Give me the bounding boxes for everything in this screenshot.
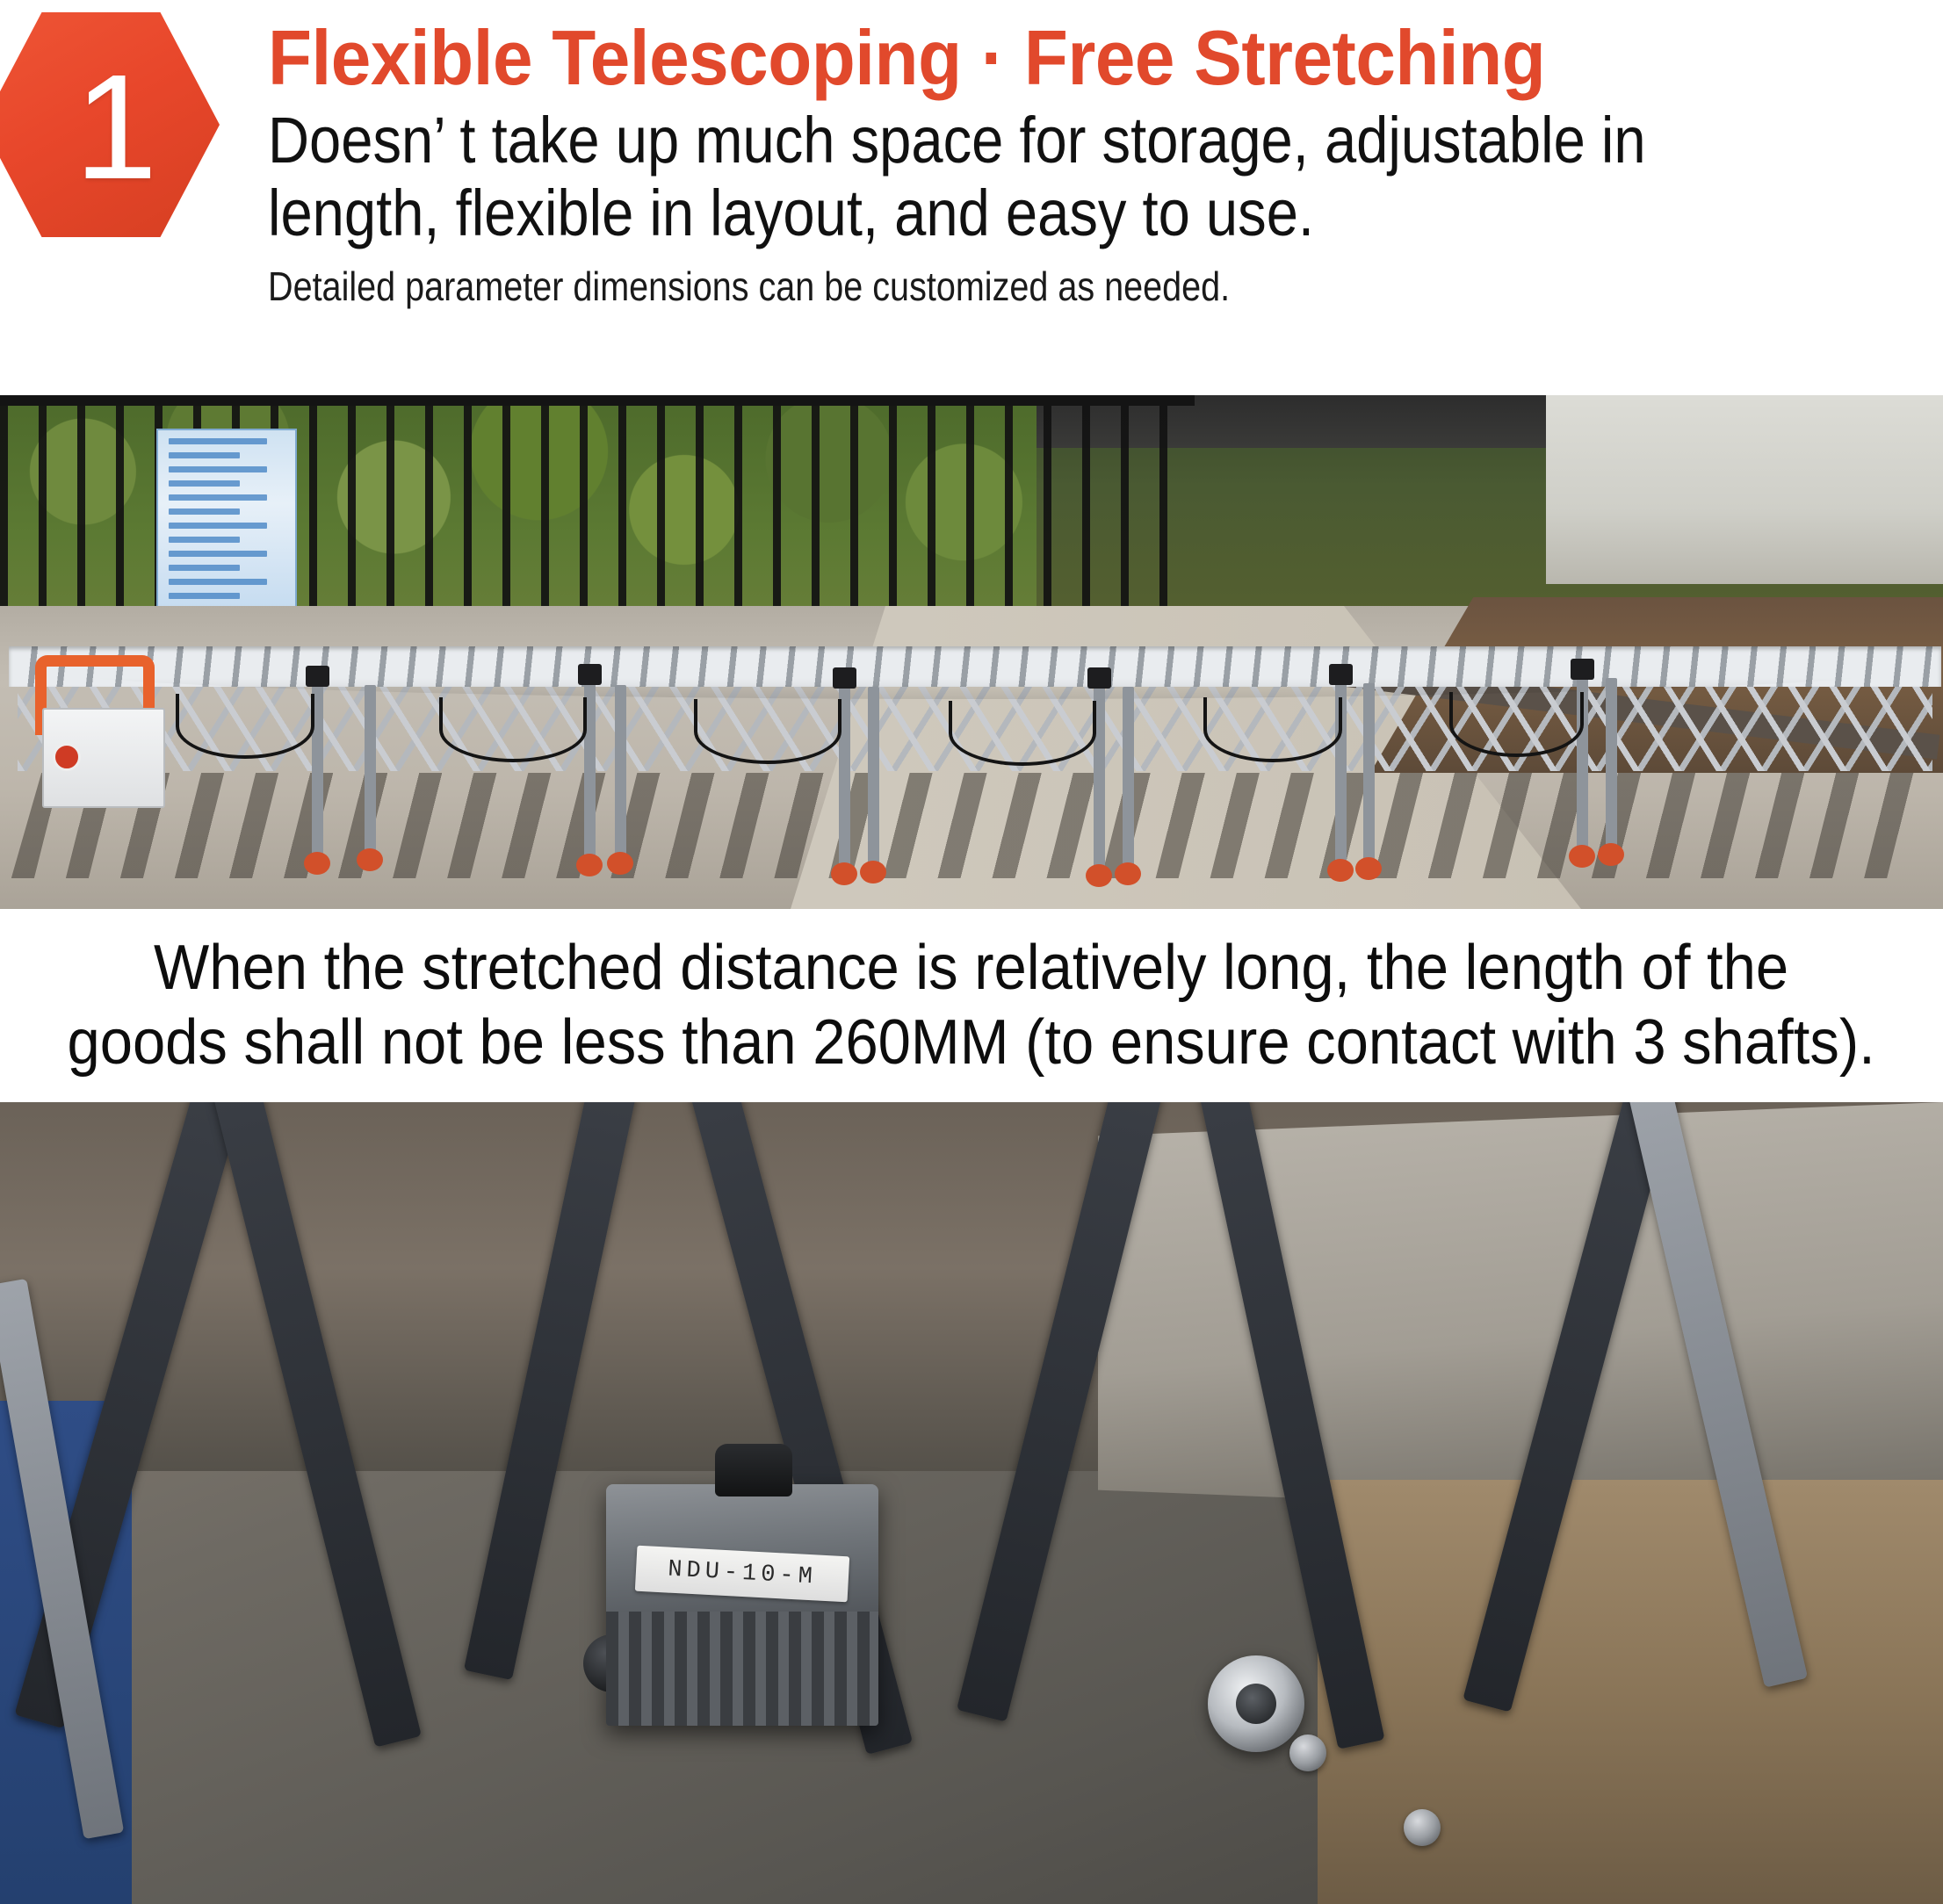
roller-bearing	[1208, 1655, 1304, 1752]
product-feature-page: 1 Flexible Telescoping · Free Stretching…	[0, 0, 1943, 1904]
power-cable	[694, 699, 841, 764]
support-leg	[868, 687, 879, 864]
caption-line-1: When the stretched distance is relativel…	[154, 931, 1788, 1006]
iron-fence-rail	[0, 395, 1195, 406]
mounting-bolt	[1404, 1809, 1441, 1846]
mounting-bolt	[1289, 1735, 1326, 1771]
support-leg	[615, 685, 626, 855]
support-leg	[365, 685, 376, 852]
motor-nameplate: NDU-10-M	[635, 1546, 849, 1603]
power-cable	[1203, 697, 1342, 762]
support-leg	[1123, 687, 1134, 866]
drive-motor: NDU-10-M	[606, 1484, 878, 1726]
power-cable	[949, 701, 1096, 766]
power-cable	[176, 694, 314, 759]
feature-header: 1 Flexible Telescoping · Free Stretching…	[0, 0, 1943, 395]
feature-note: Detailed parameter dimensions can be cus…	[268, 263, 1695, 311]
motor-shaft	[715, 1444, 792, 1497]
support-leg	[1363, 683, 1375, 861]
white-wall-right	[1546, 395, 1943, 584]
badge-number: 1	[75, 53, 158, 202]
hexagon-badge-icon: 1	[0, 12, 220, 237]
feature-subtitle: Doesn’ t take up much space for storage,…	[268, 105, 1729, 250]
power-cable	[439, 697, 587, 762]
feature-title: Flexible Telescoping · Free Stretching	[268, 16, 1812, 99]
support-leg	[1606, 678, 1617, 847]
header-text-block: Flexible Telescoping · Free Stretching D…	[268, 16, 1928, 311]
motor-cooling-fins	[606, 1612, 878, 1726]
photo-roller-closeup	[0, 1102, 1943, 1904]
photo-telescopic-conveyor-outdoor	[0, 395, 1943, 909]
caption-line-2: goods shall not be less than 260MM (to e…	[68, 1006, 1875, 1080]
middle-caption: When the stretched distance is relativel…	[0, 909, 1943, 1102]
conveyor-shadow	[11, 773, 1930, 878]
motor-model-text: NDU-10-M	[668, 1557, 818, 1591]
power-cable	[1449, 692, 1584, 757]
emergency-stop-button	[53, 743, 81, 771]
